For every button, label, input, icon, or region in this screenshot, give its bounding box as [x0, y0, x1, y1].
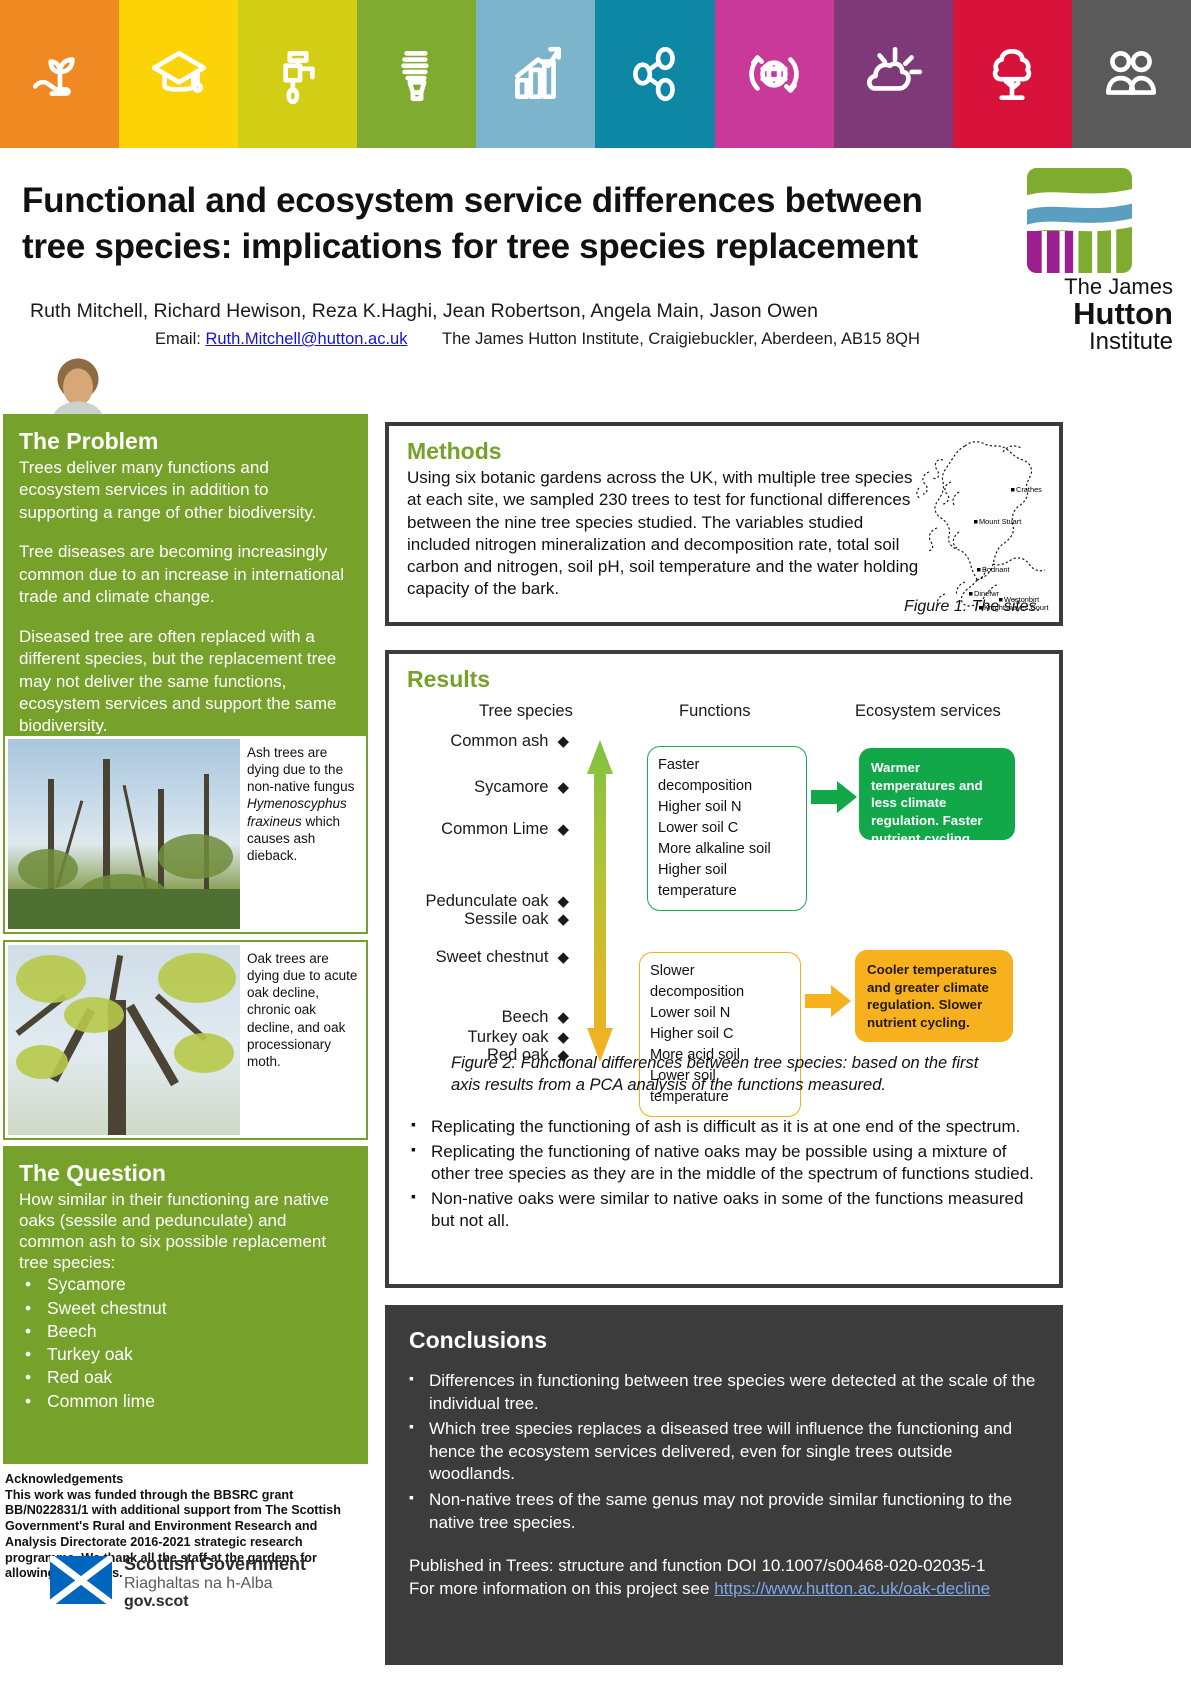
graduation-cap-icon — [146, 41, 212, 107]
header-icon-bands — [0, 0, 1191, 148]
band-weather-cloud-sun — [834, 0, 953, 148]
band-plant-in-hand — [0, 0, 119, 148]
column-divider — [371, 414, 377, 1684]
author-list: Ruth Mitchell, Richard Hewison, Reza K.H… — [30, 300, 960, 323]
question-intro: How similar in their functioning are nat… — [19, 1189, 352, 1273]
ecosystem-service-box-bottom: Cooler temperatures and greater climate … — [855, 950, 1013, 1042]
title-block: Functional and ecosystem service differe… — [0, 148, 1191, 410]
species-label-common-lime: Common Lime◆ — [407, 820, 569, 839]
acknowledgements-heading: Acknowledgements — [5, 1472, 367, 1488]
band-energy-bulb — [357, 0, 476, 148]
species-label-sweet-chestnut: Sweet chestnut◆ — [407, 948, 569, 967]
list-item: Non-native trees of the same genus may n… — [409, 1489, 1043, 1534]
question-section: The Question How similar in their functi… — [3, 1146, 368, 1464]
water-tap-icon — [265, 41, 331, 107]
ash-photo-row: Ash trees are dying due to the non-nativ… — [3, 734, 368, 934]
ash-dieback-photo — [8, 739, 240, 929]
network-share-icon — [622, 41, 688, 107]
left-column: The Problem Trees deliver many functions… — [0, 414, 368, 1684]
function-top-4: More alkaline soil — [658, 839, 796, 860]
band-global-recycle — [715, 0, 834, 148]
hutton-logo-mark — [1027, 168, 1132, 273]
scottish-government-wordmark: Scottish Government Riaghaltas na h-Alba… — [124, 1554, 306, 1612]
conclusions-bullet-list: Differences in functioning between tree … — [409, 1370, 1043, 1534]
band-water-tap — [238, 0, 357, 148]
band-network-share — [595, 0, 714, 148]
species-label-sycamore: Sycamore◆ — [407, 778, 569, 797]
svg-text:Bodnant: Bodnant — [982, 565, 1010, 574]
ecosystem-service-box-top: Warmer temperatures and less climate reg… — [859, 748, 1015, 840]
project-link[interactable]: https://www.hutton.ac.uk/oak-decline — [714, 1579, 990, 1598]
figure2-caption: Figure 2. Functional differences between… — [451, 1052, 1011, 1097]
ash-photo-caption: Ash trees are dying due to the non-nativ… — [247, 744, 359, 864]
species-label-sessile-oak: Sessile oak◆ — [407, 910, 569, 929]
oak-photo-caption: Oak trees are dying due to acute oak dec… — [247, 950, 359, 1070]
list-item: Beech — [25, 1320, 352, 1343]
band-tree — [953, 0, 1072, 148]
band-graduation-cap — [119, 0, 238, 148]
ash-caption-part-a: Ash trees are dying due to the non-nativ… — [247, 745, 354, 794]
email-link[interactable]: Ruth.Mitchell@hutton.ac.uk — [205, 330, 407, 348]
column-header-ecosystem-services: Ecosystem services — [855, 702, 1001, 721]
hutton-logo-line2: Hutton — [1007, 298, 1173, 330]
hutton-logo-line3: Institute — [1007, 330, 1173, 354]
band-bar-chart-growth — [476, 0, 595, 148]
uk-sites-map: Crathes Mount Stuart Bodnant Dinefwr Wes… — [907, 432, 1055, 612]
functions-box-top: Faster decomposition Higher soil N Lower… — [647, 746, 807, 911]
svg-text:Dinefwr: Dinefwr — [974, 589, 1000, 598]
conclusions-heading: Conclusions — [409, 1327, 1043, 1354]
publication-info: Published in Trees: structure and functi… — [409, 1554, 1043, 1600]
function-top-3: Lower soil C — [658, 818, 796, 839]
list-item: Common lime — [25, 1390, 352, 1413]
people-group-icon — [1098, 41, 1164, 107]
arrow-amber-right-icon — [805, 984, 851, 1018]
function-bottom-2: Lower soil N — [650, 1003, 790, 1024]
scotgov-line2: Riaghaltas na h-Alba — [124, 1575, 306, 1594]
function-bottom-3: Higher soil C — [650, 1024, 790, 1045]
methods-text: Using six botanic gardens across the UK,… — [407, 467, 923, 601]
svg-text:Crathes: Crathes — [1016, 485, 1042, 494]
function-top-1: Faster decomposition — [658, 755, 796, 797]
tree-icon — [979, 41, 1045, 107]
list-item: Replicating the functioning of native oa… — [411, 1141, 1041, 1186]
figure1-caption: Figure 1. The sites. — [904, 598, 1041, 616]
hutton-logo-line1: The James — [1007, 276, 1173, 298]
problem-paragraph-3: Diseased tree are often replaced with a … — [19, 626, 352, 738]
oak-photo-row: Oak trees are dying due to acute oak dec… — [3, 940, 368, 1140]
more-info-line: For more information on this project see… — [409, 1577, 1043, 1600]
pca-axis-arrow — [587, 740, 613, 1062]
james-hutton-institute-logo: The James Hutton Institute — [1007, 168, 1173, 378]
list-item: Non-native oaks were similar to native o… — [411, 1188, 1041, 1233]
list-item: Sweet chestnut — [25, 1297, 352, 1320]
contact-line: Email: Ruth.Mitchell@hutton.ac.uk The Ja… — [155, 330, 955, 349]
methods-section: Methods Using six botanic gardens across… — [385, 422, 1063, 626]
svg-text:Mount Stuart: Mount Stuart — [979, 517, 1021, 526]
problem-paragraph-1: Trees deliver many functions and ecosyst… — [19, 457, 352, 524]
results-bullet-list: Replicating the functioning of ash is di… — [411, 1116, 1041, 1235]
oak-decline-photo — [8, 945, 240, 1135]
list-item: Red oak — [25, 1366, 352, 1389]
figure2-diagram: Tree species Functions Ecosystem service… — [407, 702, 1047, 1042]
scotgov-line3: gov.scot — [124, 1593, 306, 1612]
list-item: Turkey oak — [25, 1343, 352, 1366]
hutton-logo-wordmark: The James Hutton Institute — [1007, 276, 1173, 355]
column-header-tree-species: Tree species — [479, 702, 573, 721]
question-species-list: Sycamore Sweet chestnut Beech Turkey oak… — [19, 1273, 352, 1413]
energy-bulb-icon — [384, 41, 450, 107]
list-item: Replicating the functioning of ash is di… — [411, 1116, 1041, 1139]
function-top-2: Higher soil N — [658, 797, 796, 818]
problem-section: The Problem Trees deliver many functions… — [3, 414, 368, 734]
list-item: Sycamore — [25, 1273, 352, 1296]
species-label-turkey-oak: Turkey oak◆ — [407, 1028, 569, 1047]
affiliation: The James Hutton Institute, Craigiebuckl… — [442, 330, 920, 348]
problem-paragraph-2: Tree diseases are becoming increasingly … — [19, 541, 352, 608]
weather-cloud-sun-icon — [860, 41, 926, 107]
page-title: Functional and ecosystem service differe… — [22, 178, 952, 269]
function-top-5: Higher soil temperature — [658, 860, 796, 902]
list-item: Differences in functioning between tree … — [409, 1370, 1043, 1415]
problem-heading: The Problem — [19, 428, 352, 455]
species-label-common-ash: Common ash◆ — [407, 732, 569, 751]
saltire-flag-icon — [50, 1556, 112, 1604]
publication-doi: Published in Trees: structure and functi… — [409, 1554, 1043, 1577]
arrow-green-right-icon — [811, 780, 857, 814]
scotgov-line1: Scottish Government — [124, 1554, 306, 1575]
email-label: Email: — [155, 330, 201, 348]
results-section: Results Tree species Functions Ecosystem… — [385, 650, 1063, 1288]
function-bottom-1: Slower decomposition — [650, 961, 790, 1003]
species-label-pedunculate-oak: Pedunculate oak◆ — [407, 892, 569, 911]
scottish-government-logo: Scottish Government Riaghaltas na h-Alba… — [50, 1554, 350, 1610]
conclusions-section: Conclusions Differences in functioning b… — [385, 1305, 1063, 1665]
list-item: Which tree species replaces a diseased t… — [409, 1418, 1043, 1486]
global-recycle-icon — [741, 41, 807, 107]
band-people-group — [1072, 0, 1191, 148]
plant-in-hand-icon — [27, 41, 93, 107]
results-heading: Results — [407, 666, 1059, 693]
more-info-prefix: For more information on this project see — [409, 1579, 714, 1598]
question-heading: The Question — [19, 1160, 352, 1187]
bar-chart-growth-icon — [503, 41, 569, 107]
column-header-functions: Functions — [679, 702, 751, 721]
species-label-beech: Beech◆ — [407, 1008, 569, 1027]
